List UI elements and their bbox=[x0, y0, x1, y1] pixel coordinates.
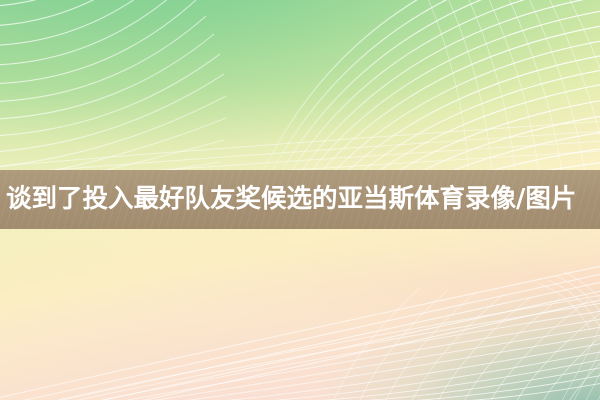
caption-band: 谈到了投入最好队友奖候选的亚当斯体育录像/图片 bbox=[0, 170, 600, 229]
banner-image: 谈到了投入最好队友奖候选的亚当斯体育录像/图片 bbox=[0, 0, 600, 400]
caption-text: 谈到了投入最好队友奖候选的亚当斯体育录像/图片 bbox=[0, 187, 576, 213]
